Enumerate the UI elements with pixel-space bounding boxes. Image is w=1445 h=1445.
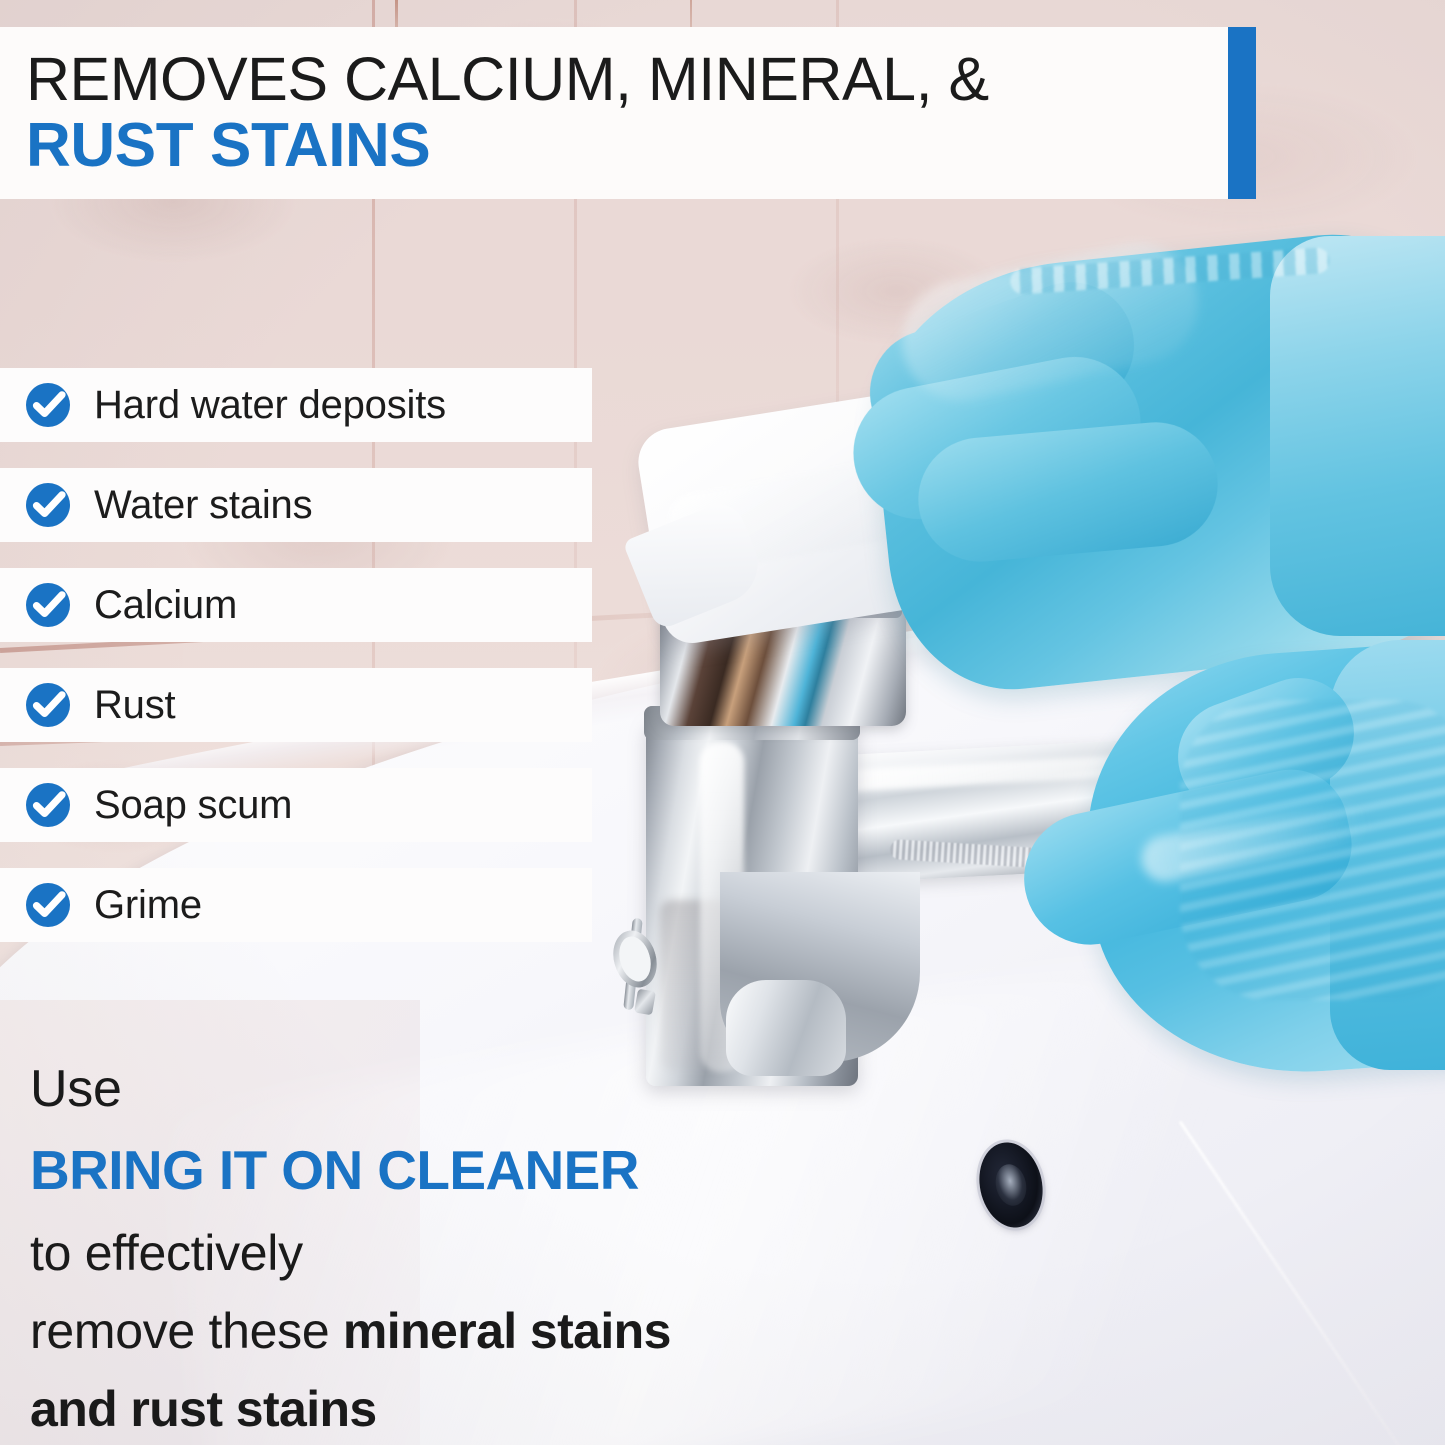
checklist-item-label: Grime: [94, 883, 202, 928]
copy-remove-line: remove these mineral stains: [30, 1306, 930, 1356]
check-circle-icon: [25, 682, 71, 728]
headline-line-1: REMOVES CALCIUM, MINERAL, &: [26, 48, 1228, 110]
checklist-item: Grime: [0, 868, 592, 942]
copy-mineral-stains: mineral stains: [343, 1303, 671, 1359]
check-circle-icon: [25, 582, 71, 628]
check-circle-icon: [25, 482, 71, 528]
checklist-item: Calcium: [0, 568, 592, 642]
bottom-copy-block: Use BRING IT ON CLEANER to effectively r…: [30, 1063, 930, 1434]
checklist-item-label: Water stains: [94, 483, 312, 528]
headline-banner: REMOVES CALCIUM, MINERAL, & RUST STAINS: [0, 27, 1228, 199]
headline-line-2: RUST STAINS: [26, 114, 1228, 178]
checklist-item-label: Rust: [94, 683, 175, 728]
checklist-item: Soap scum: [0, 768, 592, 842]
benefits-checklist: Hard water deposits Water stains Calcium: [0, 368, 592, 968]
headline-accent-bar: [1228, 27, 1256, 199]
check-circle-icon: [25, 782, 71, 828]
copy-effectively: to effectively: [30, 1228, 930, 1278]
copy-and-rust-stains: and rust stains: [30, 1384, 930, 1434]
checklist-item-label: Hard water deposits: [94, 383, 446, 428]
check-circle-icon: [25, 882, 71, 928]
glove-cuff-upper: [1270, 236, 1445, 636]
checklist-item: Rust: [0, 668, 592, 742]
brand-name: BRING IT ON CLEANER: [30, 1143, 930, 1198]
checklist-item: Water stains: [0, 468, 592, 542]
copy-use: Use: [30, 1063, 930, 1115]
checklist-item-label: Soap scum: [94, 783, 292, 828]
checklist-item: Hard water deposits: [0, 368, 592, 442]
copy-remove-prefix: remove these: [30, 1303, 343, 1359]
checklist-item-label: Calcium: [94, 583, 237, 628]
product-feature-poster: REMOVES CALCIUM, MINERAL, & RUST STAINS …: [0, 0, 1445, 1445]
check-circle-icon: [25, 382, 71, 428]
faucet-aerator: [726, 980, 846, 1076]
